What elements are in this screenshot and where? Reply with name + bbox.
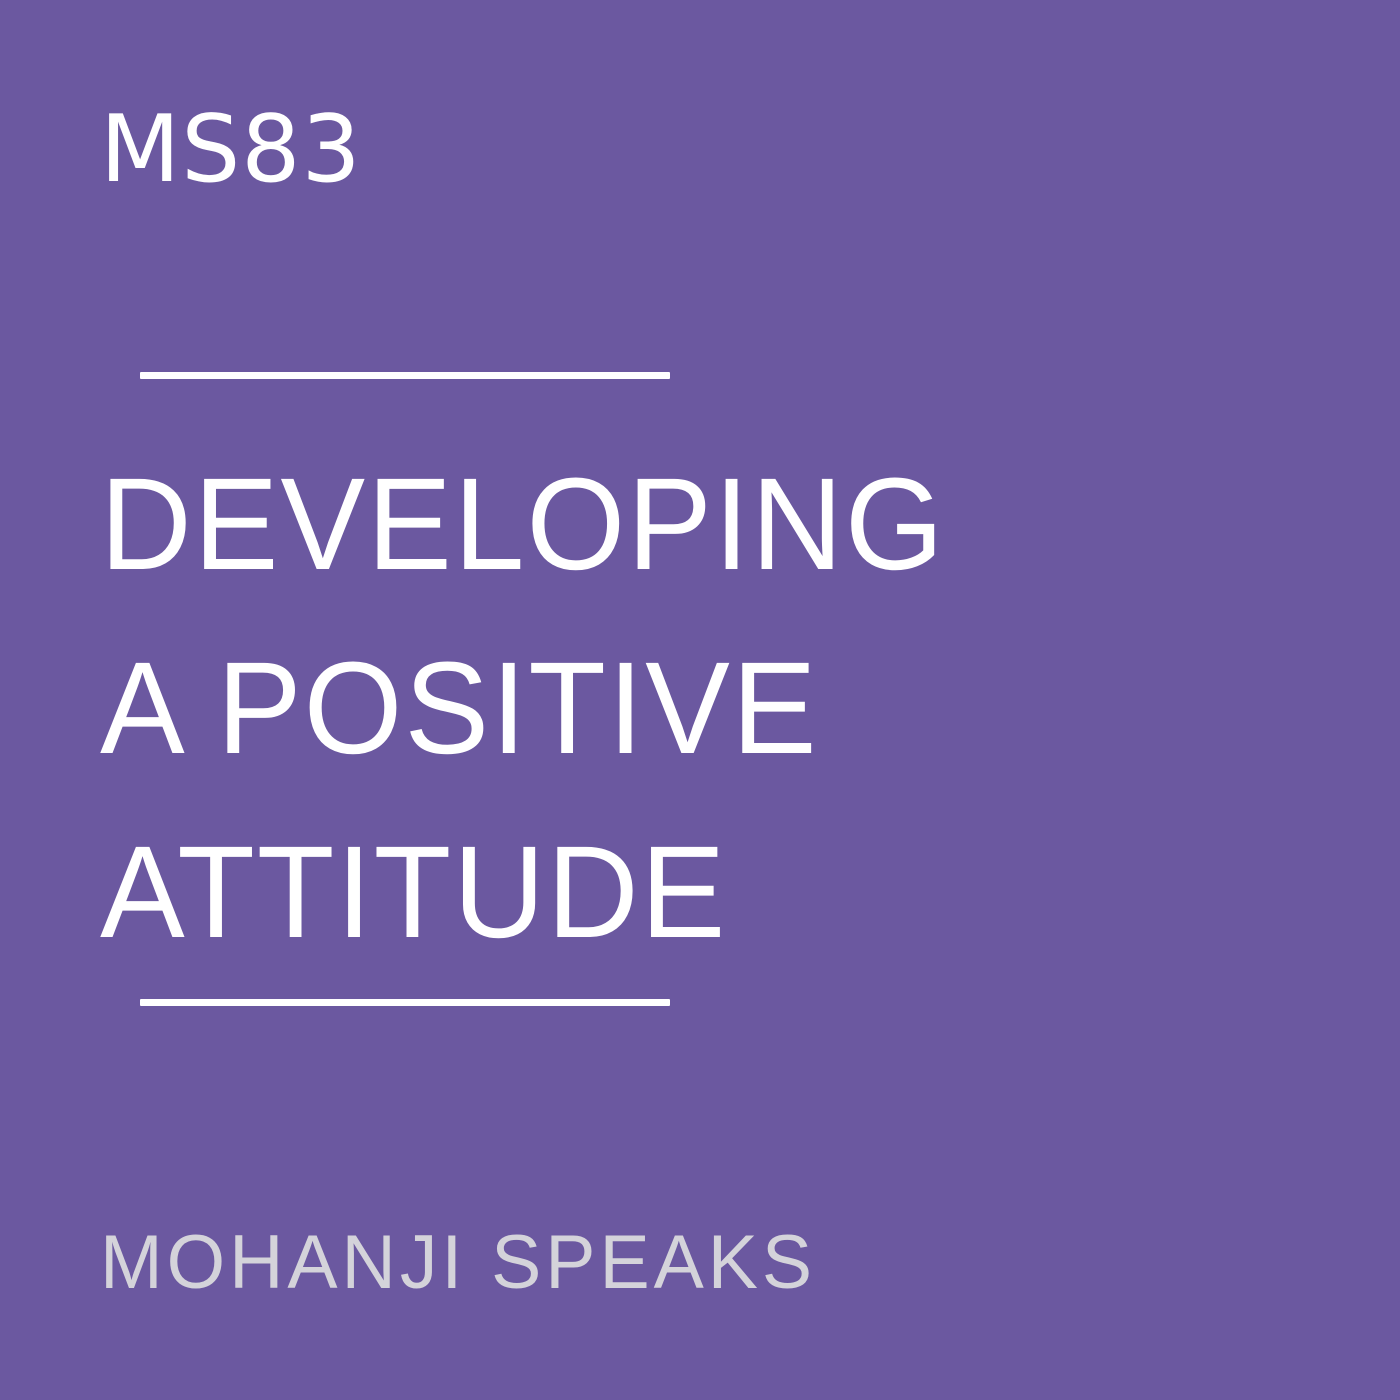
episode-code: MS83 bbox=[100, 103, 362, 196]
divider-rule-bottom bbox=[140, 999, 670, 1006]
title-line-3: ATTITUDE bbox=[100, 800, 1264, 984]
podcast-cover-art: MS83 DEVELOPING A POSITIVE ATTITUDE MOHA… bbox=[0, 0, 1400, 1400]
show-name: MOHANJI SPEAKS bbox=[100, 1225, 816, 1301]
title-line-2: A POSITIVE bbox=[100, 616, 1264, 800]
episode-title: DEVELOPING A POSITIVE ATTITUDE bbox=[100, 432, 1300, 984]
divider-rule-top bbox=[140, 372, 670, 379]
title-line-1: DEVELOPING bbox=[100, 432, 1264, 616]
